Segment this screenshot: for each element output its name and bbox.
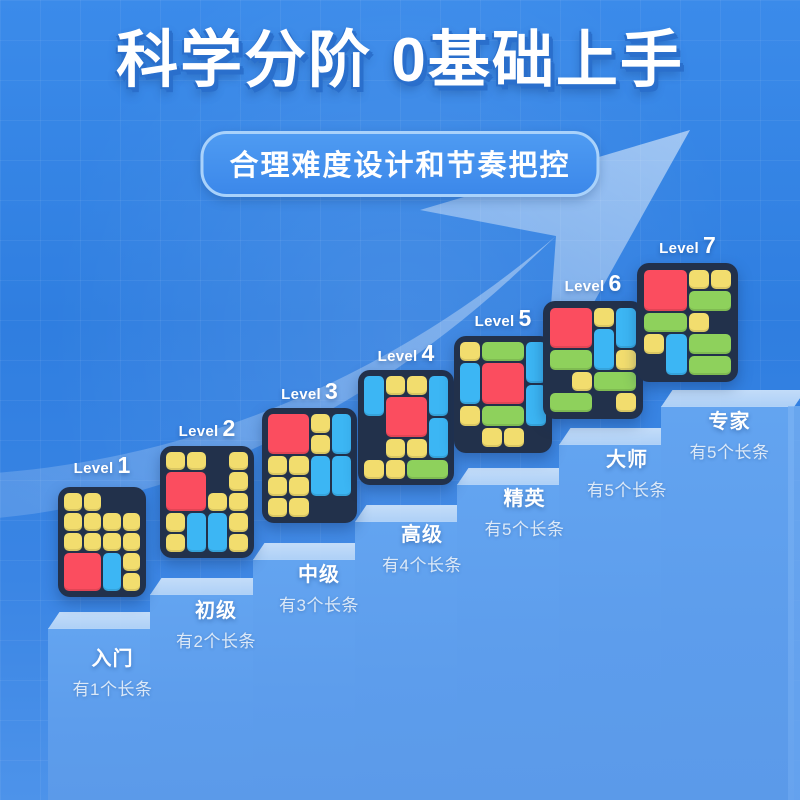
level-label: Level3	[281, 378, 338, 405]
level-number: 2	[223, 415, 236, 441]
puzzle-block-y[interactable]	[103, 533, 121, 551]
level-label: Level1	[74, 452, 131, 479]
level-number: 1	[118, 452, 131, 478]
subtitle-pill-wrap: 合理难度设计和节奏把控	[200, 131, 599, 197]
puzzle-block-y[interactable]	[166, 534, 185, 552]
stage-description: 有3个长条	[255, 591, 383, 616]
level-word: Level	[475, 313, 515, 330]
puzzle-block-y[interactable]	[311, 435, 330, 454]
puzzle-block-r[interactable]	[64, 553, 101, 591]
puzzle-block-y[interactable]	[64, 513, 82, 531]
puzzle-block-r[interactable]	[386, 397, 427, 437]
puzzle-block-y[interactable]	[364, 460, 384, 479]
level-number: 7	[703, 232, 716, 258]
level-word: Level	[565, 278, 605, 295]
puzzle-block-y[interactable]	[311, 414, 330, 433]
puzzle-block-b[interactable]	[103, 553, 121, 591]
stage-description: 有5个长条	[561, 476, 693, 501]
puzzle-block-y[interactable]	[268, 498, 287, 517]
puzzle-block-b[interactable]	[666, 334, 686, 375]
stage-description: 有4个长条	[357, 551, 487, 576]
puzzle-block-b[interactable]	[332, 456, 351, 496]
puzzle-block-y[interactable]	[594, 308, 614, 327]
puzzle-block-y[interactable]	[616, 393, 636, 412]
puzzle-block-b[interactable]	[594, 329, 614, 369]
puzzle-block-y[interactable]	[616, 350, 636, 369]
level-word: Level	[281, 386, 321, 403]
puzzle-block-y[interactable]	[84, 533, 102, 551]
stage-description: 有1个长条	[50, 675, 175, 700]
puzzle-block-g[interactable]	[689, 334, 732, 353]
puzzle-block-y[interactable]	[123, 513, 141, 531]
puzzle-board[interactable]	[637, 263, 738, 382]
level-word: Level	[378, 348, 418, 365]
puzzle-block-y[interactable]	[229, 493, 248, 511]
level-label: Level7	[659, 232, 716, 259]
puzzle-block-y[interactable]	[407, 439, 427, 458]
puzzle-block-g[interactable]	[482, 406, 524, 425]
stage-description: 有2个长条	[152, 627, 280, 652]
puzzle-block-g[interactable]	[594, 372, 636, 391]
puzzle-block-b[interactable]	[208, 513, 227, 552]
level-label: Level2	[179, 415, 236, 442]
puzzle-board[interactable]	[262, 408, 357, 523]
puzzle-block-y[interactable]	[386, 460, 406, 479]
puzzle-block-b[interactable]	[311, 456, 330, 496]
puzzle-block-y[interactable]	[208, 493, 227, 511]
step-side-face	[788, 406, 800, 800]
puzzle-board[interactable]	[160, 446, 254, 558]
puzzle-block-r[interactable]	[482, 363, 524, 404]
stage-name: 专家	[663, 405, 796, 434]
puzzle-block-y[interactable]	[64, 533, 82, 551]
puzzle-block-y[interactable]	[460, 406, 480, 425]
puzzle-block-y[interactable]	[711, 270, 731, 289]
puzzle-block-b[interactable]	[429, 418, 449, 458]
puzzle-block-y[interactable]	[460, 342, 480, 361]
puzzle-block-y[interactable]	[386, 439, 406, 458]
stage-caption: 专家有5个长条	[663, 405, 796, 463]
level-label: Level5	[475, 305, 532, 332]
puzzle-block-g[interactable]	[644, 313, 687, 332]
level-word: Level	[179, 423, 219, 440]
puzzle-block-y[interactable]	[84, 513, 102, 531]
poster-root: 科学分阶 0基础上手 合理难度设计和节奏把控 Level1Level2Level…	[0, 0, 800, 800]
puzzle-block-y[interactable]	[386, 376, 406, 395]
puzzle-block-y[interactable]	[166, 452, 185, 470]
puzzle-block-b[interactable]	[332, 414, 351, 454]
puzzle-block-r[interactable]	[268, 414, 309, 454]
puzzle-block-b[interactable]	[429, 376, 449, 416]
stage-description: 有5个长条	[663, 438, 796, 463]
puzzle-board[interactable]	[454, 336, 552, 453]
puzzle-block-y[interactable]	[123, 533, 141, 551]
puzzle-block-y[interactable]	[407, 376, 427, 395]
puzzle-block-y[interactable]	[103, 513, 121, 531]
puzzle-block-y[interactable]	[229, 534, 248, 552]
puzzle-block-g[interactable]	[689, 291, 732, 310]
puzzle-block-y[interactable]	[504, 428, 524, 447]
puzzle-block-y[interactable]	[289, 498, 308, 517]
puzzle-block-b[interactable]	[364, 376, 384, 416]
level-number: 6	[609, 270, 622, 296]
level-number: 3	[325, 378, 338, 404]
page-title: 科学分阶 0基础上手	[0, 30, 800, 92]
puzzle-block-y[interactable]	[229, 472, 248, 490]
puzzle-block-g[interactable]	[407, 460, 448, 479]
level-number: 5	[519, 305, 532, 331]
puzzle-block-y[interactable]	[689, 313, 709, 332]
puzzle-block-b[interactable]	[187, 513, 206, 552]
level-label: Level6	[565, 270, 622, 297]
puzzle-block-y[interactable]	[123, 553, 141, 571]
level-label: Level4	[378, 340, 435, 367]
puzzle-board[interactable]	[543, 301, 643, 419]
puzzle-block-b[interactable]	[460, 363, 480, 404]
puzzle-block-y[interactable]	[268, 456, 287, 475]
puzzle-block-b[interactable]	[616, 308, 636, 348]
puzzle-block-y[interactable]	[229, 452, 248, 470]
puzzle-block-y[interactable]	[123, 573, 141, 591]
puzzle-block-y[interactable]	[187, 452, 206, 470]
level-number: 4	[422, 340, 435, 366]
puzzle-block-y[interactable]	[289, 456, 308, 475]
puzzle-block-r[interactable]	[644, 270, 687, 311]
puzzle-block-y[interactable]	[689, 270, 709, 289]
puzzle-block-y[interactable]	[289, 477, 308, 496]
puzzle-block-y[interactable]	[64, 493, 82, 511]
puzzle-block-y[interactable]	[84, 493, 102, 511]
puzzle-block-r[interactable]	[550, 308, 592, 348]
puzzle-block-y[interactable]	[166, 513, 185, 531]
puzzle-block-g[interactable]	[689, 356, 732, 375]
subtitle-pill: 合理难度设计和节奏把控	[200, 131, 599, 197]
level-word: Level	[659, 240, 699, 257]
puzzle-block-y[interactable]	[482, 428, 502, 447]
puzzle-block-y[interactable]	[572, 372, 592, 391]
puzzle-block-r[interactable]	[166, 472, 206, 511]
puzzle-block-y[interactable]	[268, 477, 287, 496]
puzzle-block-g[interactable]	[550, 393, 592, 412]
stage-description: 有5个长条	[459, 515, 590, 540]
puzzle-block-y[interactable]	[644, 334, 664, 353]
puzzle-block-g[interactable]	[482, 342, 524, 361]
level-word: Level	[74, 460, 114, 477]
puzzle-board[interactable]	[358, 370, 454, 485]
puzzle-block-y[interactable]	[229, 513, 248, 531]
puzzle-block-g[interactable]	[550, 350, 592, 369]
puzzle-board[interactable]	[58, 487, 146, 597]
